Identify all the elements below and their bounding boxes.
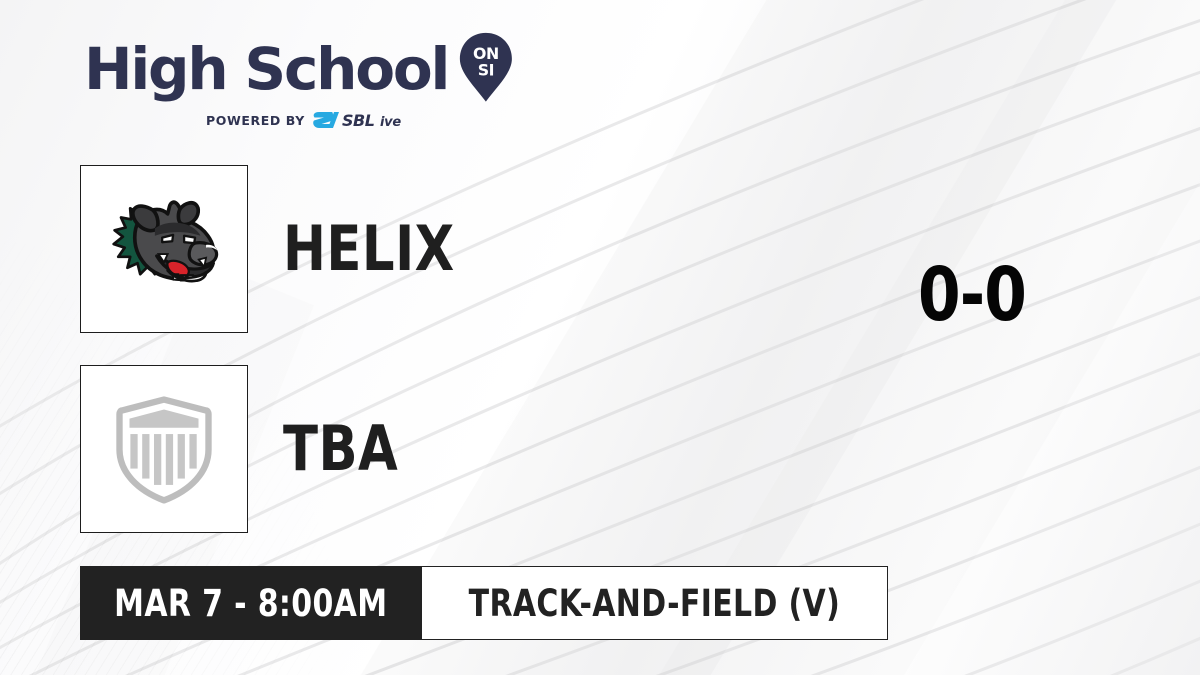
game-datetime-block: MAR 7 - 8:00AM <box>80 566 422 640</box>
svg-text:SI: SI <box>478 61 494 80</box>
bulldog-mascot-logo-icon <box>100 190 228 309</box>
game-info-bar: MAR 7 - 8:00AM TRACK-AND-FIELD (V) <box>80 566 888 640</box>
game-sport-block: TRACK-AND-FIELD (V) <box>422 566 888 640</box>
team-name-home: TBA <box>283 418 398 480</box>
team-row-away: HELIX <box>80 165 470 333</box>
on-si-pin-icon: ON SI <box>458 31 514 109</box>
scoreboard-graphic: High School ON SI POWERED BY SBL ive <box>0 0 1200 675</box>
score-display: 0-0 <box>918 258 1026 332</box>
sblive-logo-icon: SBL ive <box>312 110 428 130</box>
svg-text:ive: ive <box>380 115 401 130</box>
page-title: High School <box>84 40 448 98</box>
brand-header: High School ON SI POWERED BY SBL ive <box>84 34 514 130</box>
team-name-away: HELIX <box>283 218 455 280</box>
powered-by-row: POWERED BY SBL ive <box>84 110 514 130</box>
team-logo-away <box>80 165 248 333</box>
game-datetime-text: MAR 7 - 8:00AM <box>114 585 387 622</box>
game-sport-text: TRACK-AND-FIELD (V) <box>469 585 841 622</box>
generic-shield-logo-icon <box>114 395 214 504</box>
powered-by-label: POWERED BY <box>206 113 305 128</box>
svg-text:SBL: SBL <box>342 111 375 130</box>
team-logo-home <box>80 365 248 533</box>
team-row-home: TBA <box>80 365 408 533</box>
brand-title-row: High School ON SI <box>84 34 514 104</box>
